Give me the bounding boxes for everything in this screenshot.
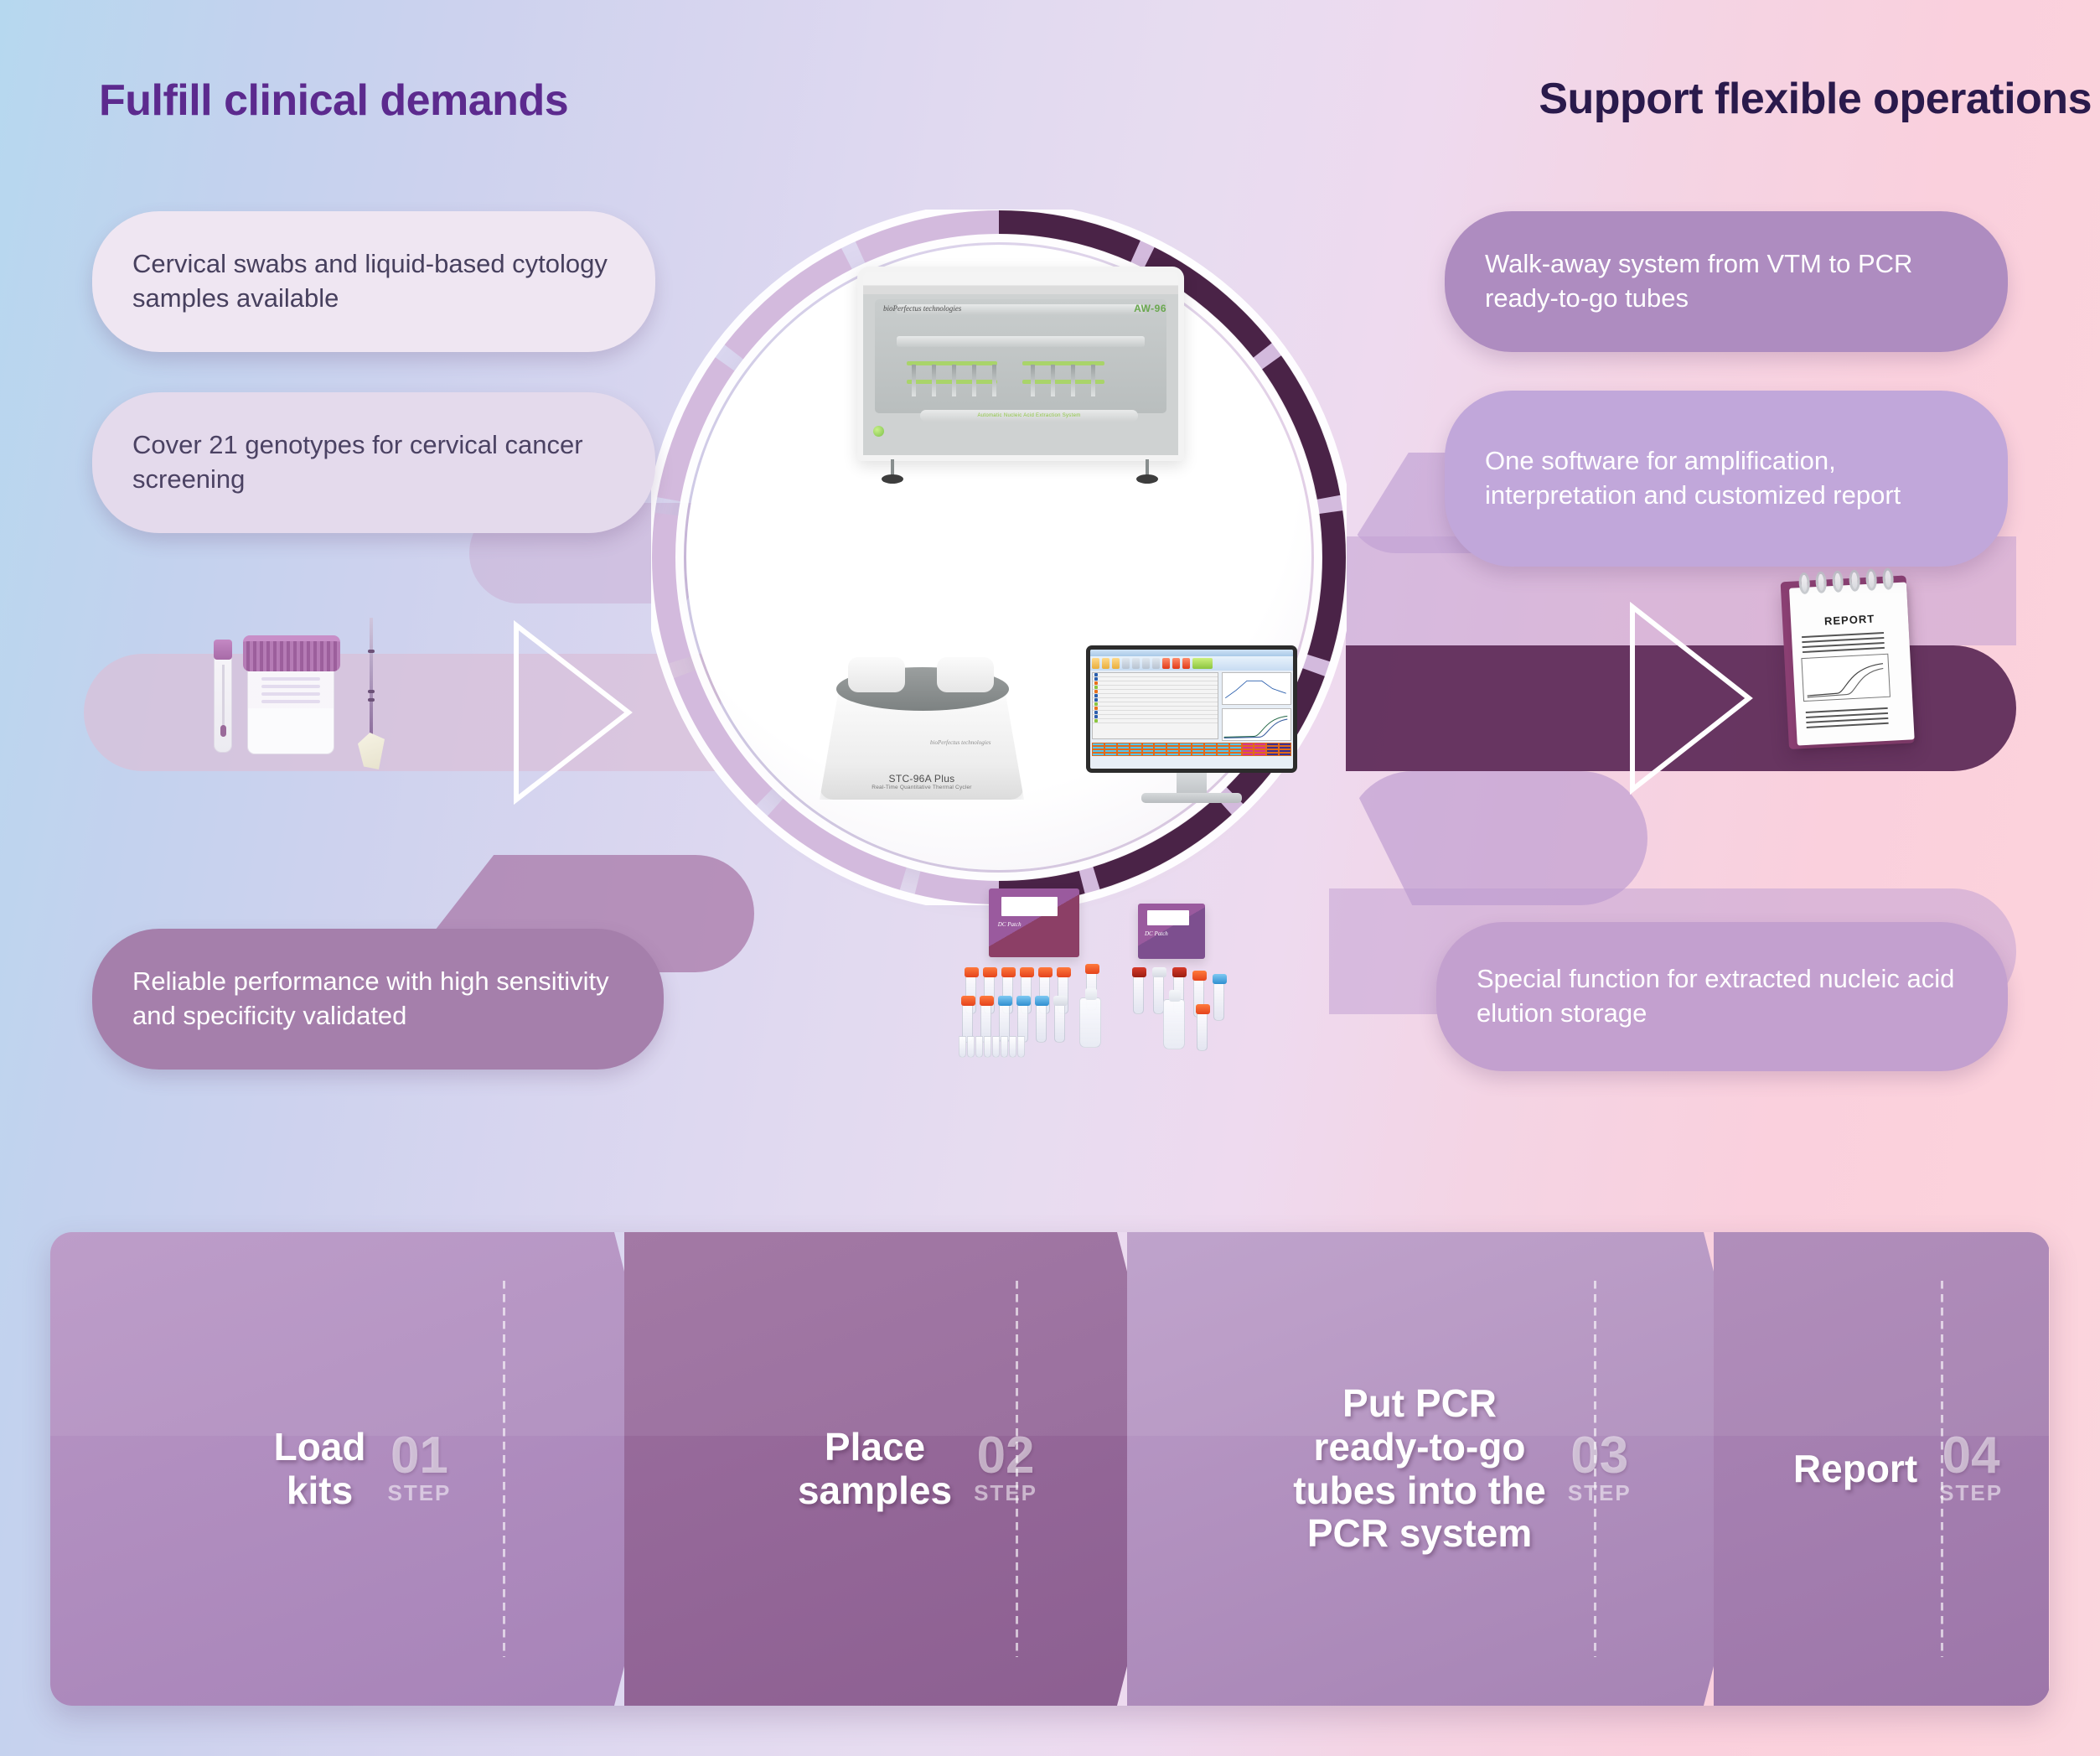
reagent-kit-box: DC Patch [1138, 904, 1205, 959]
cytology-sample-jar [247, 658, 334, 754]
step-2-divider [1016, 1281, 1018, 1657]
sample-tube [1036, 1002, 1047, 1043]
step-4-title: Report [1793, 1448, 1917, 1491]
power-led-icon [873, 426, 884, 437]
extractor-brand-label: bioPerfectus technologies [883, 304, 961, 313]
kit-name-label: DC Patch [998, 921, 1063, 928]
cycler-model-label: STC-96A Plus [804, 773, 1039, 785]
extractor-foot [1142, 459, 1152, 484]
step-3-number: 03 [1568, 1432, 1632, 1481]
cycler-brand-label: bioPerfectus technologies [930, 739, 991, 746]
step-4[interactable]: Report 04 STEP [1714, 1232, 2049, 1706]
feature-bubble-right-2[interactable]: One software for amplification, interpre… [1445, 391, 2008, 567]
monitor-neck [1177, 773, 1207, 795]
step-4-label: STEP [1939, 1480, 2003, 1506]
step-1-title: Load kits [274, 1426, 366, 1512]
right-bottom-connector [1346, 771, 1647, 905]
kit-name-label: DC Patch [1145, 930, 1193, 937]
step-1-divider [503, 1281, 505, 1657]
thermal-program-chart [1222, 672, 1291, 705]
sample-tube [1054, 1002, 1065, 1043]
step-1-number: 01 [387, 1432, 451, 1481]
step-3-title: Put PCR ready-to-go tubes into the PCR s… [1293, 1382, 1546, 1555]
feature-bubble-left-2[interactable]: Cover 21 genotypes for cervical cancer s… [92, 392, 655, 533]
sample-tube [1133, 974, 1144, 1014]
workflow-steps-bar: Load kits 01 STEP Place samples 02 STEP … [50, 1232, 2050, 1706]
software-toolbar [1090, 656, 1293, 671]
step-1[interactable]: Load kits 01 STEP [50, 1232, 675, 1706]
amplification-curve-chart [1222, 708, 1291, 741]
step-2-number: 02 [974, 1432, 1037, 1481]
software-titlebar [1090, 650, 1293, 656]
left-arrow-icon [509, 620, 635, 805]
reagent-vial [1079, 997, 1101, 1048]
well-plate-grid [1092, 743, 1291, 769]
feature-bubble-left-1[interactable]: Cervical swabs and liquid-based cytology… [92, 211, 655, 352]
thermal-cycler: bioPerfectus technologies STC-96A Plus R… [804, 652, 1039, 803]
feature-bubble-right-3[interactable]: Special function for extracted nucleic a… [1436, 922, 2008, 1071]
pcr-software-monitor [1086, 645, 1297, 813]
reagent-vial [1163, 999, 1185, 1049]
step-3-label: STEP [1568, 1480, 1632, 1506]
extractor-foot [887, 459, 897, 484]
extractor-strip-label: Automatic Nucleic Acid Extraction System [920, 410, 1138, 422]
report-notepad: REPORT [1781, 575, 1924, 758]
step-4-number: 04 [1939, 1432, 2003, 1481]
pcr-tube-strip [959, 1036, 1025, 1058]
step-2[interactable]: Place samples 02 STEP [624, 1232, 1177, 1706]
specimen-collection-items [214, 624, 490, 775]
cervical-brush-icon [354, 618, 388, 773]
feature-bubble-left-3[interactable]: Reliable performance with high sensitivi… [92, 929, 664, 1070]
swab-transport-tube [214, 654, 232, 753]
cycler-subtitle-label: Real-Time Quantitative Thermal Cycler [804, 785, 1039, 790]
feature-bubble-right-1[interactable]: Walk-away system from VTM to PCR ready-t… [1445, 211, 2008, 352]
step-3[interactable]: Put PCR ready-to-go tubes into the PCR s… [1127, 1232, 1764, 1706]
step-2-label: STEP [974, 1480, 1037, 1506]
page-title-right: Support flexible operations [0, 74, 2100, 124]
report-curve-chart [1801, 654, 1891, 702]
sample-tube [1197, 1011, 1208, 1051]
step-3-divider [1594, 1281, 1596, 1657]
nucleic-acid-extractor: bioPerfectus technologies AW-96 Automati… [857, 267, 1184, 484]
reagent-kit-box: DC Patch [989, 888, 1079, 957]
extractor-model-label: AW-96 [1134, 303, 1166, 314]
right-arrow-icon [1626, 602, 1756, 795]
step-4-divider [1941, 1281, 1943, 1657]
sample-tube [1213, 981, 1224, 1021]
monitor-base [1141, 793, 1242, 803]
step-2-title: Place samples [798, 1426, 952, 1512]
step-1-label: STEP [387, 1480, 451, 1506]
